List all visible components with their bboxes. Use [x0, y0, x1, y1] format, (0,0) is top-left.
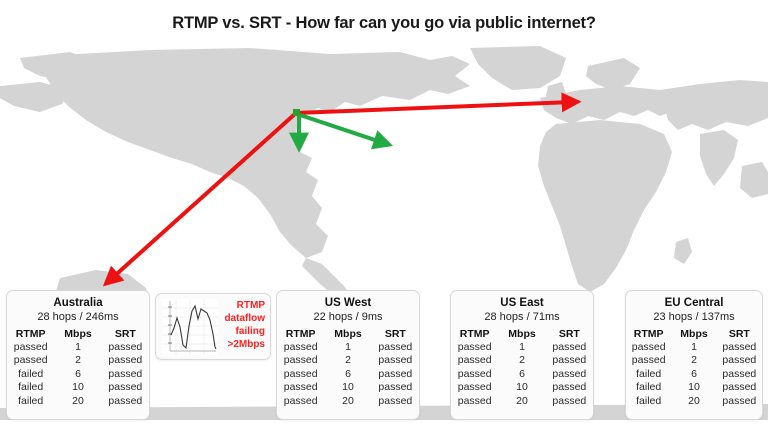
cell-mbps: 1: [498, 341, 545, 354]
card-subtitle: 22 hops / 9ms: [277, 310, 419, 325]
cell-mbps: 2: [671, 354, 716, 367]
table-row: passed 10 passed: [451, 381, 593, 394]
cell-mbps: 1: [54, 341, 101, 354]
card-header: EU Central 23 hops / 137ms: [626, 291, 762, 325]
table-row: passed 6 passed: [451, 368, 593, 381]
card-subtitle: 23 hops / 137ms: [626, 310, 762, 325]
annotation-line-3: failing: [209, 325, 265, 338]
cell-mbps: 2: [324, 354, 371, 367]
cell-srt: passed: [372, 395, 419, 408]
cell-mbps: 2: [498, 354, 545, 367]
cell-rtmp: passed: [277, 381, 324, 394]
table-row: failed 6 passed: [7, 368, 149, 381]
metrics-table: RTMP Mbps SRT passed 1 passed passed 2 p…: [451, 328, 593, 408]
table-row: passed 2 passed: [7, 354, 149, 367]
table-header-row: RTMP Mbps SRT: [451, 328, 593, 341]
cell-mbps: 6: [54, 368, 101, 381]
annotation-line-1: RTMP: [209, 299, 265, 312]
cell-srt: passed: [717, 395, 762, 408]
table-row: passed 1 passed: [626, 341, 762, 354]
cell-mbps: 20: [324, 395, 371, 408]
annotation-line-2: dataflow: [209, 312, 265, 325]
cell-rtmp: failed: [626, 395, 671, 408]
cell-rtmp: passed: [626, 354, 671, 367]
cell-srt: passed: [546, 381, 593, 394]
table-row: passed 1 passed: [7, 341, 149, 354]
cell-mbps: 10: [54, 381, 101, 394]
cell-rtmp: failed: [7, 368, 54, 381]
cell-rtmp: passed: [277, 341, 324, 354]
cell-srt: passed: [717, 341, 762, 354]
column-header-mbps: Mbps: [498, 328, 545, 341]
cell-mbps: 1: [324, 341, 371, 354]
cell-mbps: 6: [498, 368, 545, 381]
card-subtitle: 28 hops / 246ms: [7, 310, 149, 325]
table-row: passed 6 passed: [277, 368, 419, 381]
cell-srt: passed: [546, 368, 593, 381]
table-row: passed 10 passed: [277, 381, 419, 394]
cell-mbps: 6: [324, 368, 371, 381]
cell-rtmp: passed: [451, 381, 498, 394]
table-row: passed 2 passed: [277, 354, 419, 367]
cell-srt: passed: [372, 368, 419, 381]
column-header-mbps: Mbps: [671, 328, 716, 341]
column-header-rtmp: RTMP: [626, 328, 671, 341]
metrics-card-australia: Australia 28 hops / 246ms RTMP Mbps SRT …: [6, 290, 150, 420]
cell-srt: passed: [546, 395, 593, 408]
metrics-card-us-west: US West 22 hops / 9ms RTMP Mbps SRT pass…: [276, 290, 420, 420]
title-bar: RTMP vs. SRT - How far can you go via pu…: [0, 0, 768, 46]
cell-mbps: 6: [671, 368, 716, 381]
metrics-card-eu-central: EU Central 23 hops / 137ms RTMP Mbps SRT…: [625, 290, 763, 420]
card-title: Australia: [7, 296, 149, 310]
card-header: US West 22 hops / 9ms: [277, 291, 419, 325]
cell-rtmp: passed: [626, 341, 671, 354]
table-row: passed 1 passed: [277, 341, 419, 354]
cell-srt: passed: [102, 354, 149, 367]
cell-srt: passed: [717, 354, 762, 367]
cell-rtmp: passed: [277, 368, 324, 381]
rtmp-dataflow-graph-card: RTMP dataflow failing >2Mbps: [155, 293, 271, 360]
cell-rtmp: failed: [7, 395, 54, 408]
cell-srt: passed: [372, 381, 419, 394]
cell-srt: passed: [717, 368, 762, 381]
cell-rtmp: passed: [451, 368, 498, 381]
cell-rtmp: passed: [7, 354, 54, 367]
table-header-row: RTMP Mbps SRT: [277, 328, 419, 341]
cell-mbps: 1: [671, 341, 716, 354]
cell-srt: passed: [372, 341, 419, 354]
metrics-table: RTMP Mbps SRT passed 1 passed passed 2 p…: [626, 328, 762, 408]
cell-rtmp: passed: [277, 354, 324, 367]
column-header-rtmp: RTMP: [277, 328, 324, 341]
cell-srt: passed: [102, 395, 149, 408]
cell-mbps: 10: [324, 381, 371, 394]
card-subtitle: 28 hops / 71ms: [451, 310, 593, 325]
column-header-rtmp: RTMP: [7, 328, 54, 341]
column-header-srt: SRT: [717, 328, 762, 341]
rtmp-dataflow-annotation: RTMP dataflow failing >2Mbps: [209, 299, 265, 351]
cell-mbps: 20: [498, 395, 545, 408]
cell-rtmp: passed: [451, 354, 498, 367]
cell-srt: passed: [102, 368, 149, 381]
cell-rtmp: passed: [451, 395, 498, 408]
card-title: EU Central: [626, 296, 762, 310]
route-to-us-east: [300, 115, 384, 143]
cell-rtmp: passed: [277, 395, 324, 408]
route-to-australia: [110, 113, 296, 280]
cell-srt: passed: [717, 381, 762, 394]
card-title: US West: [277, 296, 419, 310]
table-header-row: RTMP Mbps SRT: [7, 328, 149, 341]
cell-rtmp: failed: [7, 381, 54, 394]
route-to-eu-central: [296, 102, 572, 113]
cell-rtmp: passed: [451, 341, 498, 354]
table-row: failed 20 passed: [7, 395, 149, 408]
cell-mbps: 10: [671, 381, 716, 394]
cell-rtmp: failed: [626, 368, 671, 381]
column-header-srt: SRT: [372, 328, 419, 341]
card-header: Australia 28 hops / 246ms: [7, 291, 149, 325]
table-row: failed 10 passed: [626, 381, 762, 394]
cell-srt: passed: [102, 381, 149, 394]
cell-srt: passed: [372, 354, 419, 367]
cell-mbps: 20: [54, 395, 101, 408]
table-row: failed 6 passed: [626, 368, 762, 381]
cell-mbps: 20: [671, 395, 716, 408]
column-header-mbps: Mbps: [54, 328, 101, 341]
metrics-card-us-east: US East 28 hops / 71ms RTMP Mbps SRT pas…: [450, 290, 594, 420]
table-row: passed 20 passed: [277, 395, 419, 408]
table-row: passed 1 passed: [451, 341, 593, 354]
metrics-table: RTMP Mbps SRT passed 1 passed passed 2 p…: [7, 328, 149, 408]
table-row: passed 20 passed: [451, 395, 593, 408]
cell-srt: passed: [102, 341, 149, 354]
table-row: failed 10 passed: [7, 381, 149, 394]
table-row: failed 20 passed: [626, 395, 762, 408]
cell-mbps: 10: [498, 381, 545, 394]
column-header-rtmp: RTMP: [451, 328, 498, 341]
cell-rtmp: passed: [7, 341, 54, 354]
card-title: US East: [451, 296, 593, 310]
annotation-line-4: >2Mbps: [209, 338, 265, 351]
table-header-row: RTMP Mbps SRT: [626, 328, 762, 341]
column-header-mbps: Mbps: [324, 328, 371, 341]
table-row: passed 2 passed: [451, 354, 593, 367]
page-title: RTMP vs. SRT - How far can you go via pu…: [172, 14, 595, 33]
cell-srt: passed: [546, 341, 593, 354]
cell-mbps: 2: [54, 354, 101, 367]
card-header: US East 28 hops / 71ms: [451, 291, 593, 325]
table-row: passed 2 passed: [626, 354, 762, 367]
column-header-srt: SRT: [546, 328, 593, 341]
column-header-srt: SRT: [102, 328, 149, 341]
cell-srt: passed: [546, 354, 593, 367]
cell-rtmp: failed: [626, 381, 671, 394]
origin-node-marker: [293, 109, 300, 116]
metrics-table: RTMP Mbps SRT passed 1 passed passed 2 p…: [277, 328, 419, 408]
